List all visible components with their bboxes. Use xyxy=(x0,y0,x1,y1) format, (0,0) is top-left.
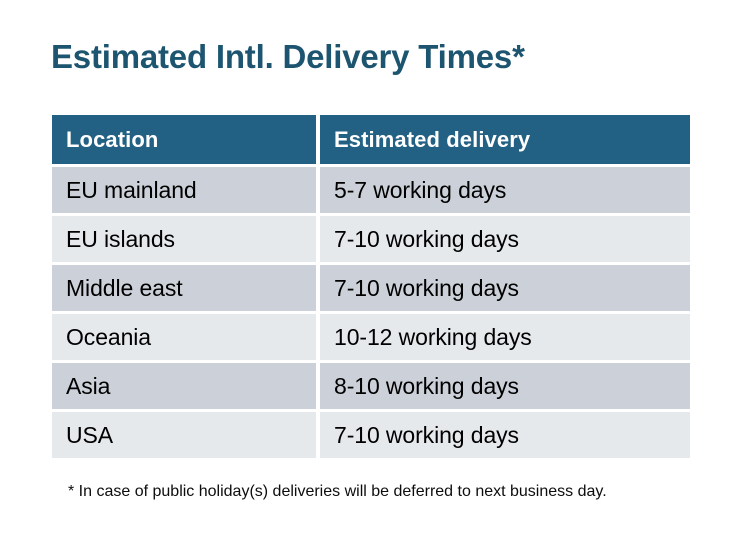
table-header-row: Location Estimated delivery xyxy=(52,115,690,164)
cell-location: USA xyxy=(52,412,316,458)
cell-estimated-delivery: 7-10 working days xyxy=(320,216,690,262)
estimated-delivery-times-table: Location Estimated delivery EU mainland … xyxy=(52,115,690,461)
footnote-text: * In case of public holiday(s) deliverie… xyxy=(68,481,607,503)
cell-estimated-delivery: 7-10 working days xyxy=(320,265,690,311)
cell-location: Oceania xyxy=(52,314,316,360)
table-row: Oceania 10-12 working days xyxy=(52,314,690,360)
cell-estimated-delivery: 7-10 working days xyxy=(320,412,690,458)
column-header-estimated-delivery: Estimated delivery xyxy=(320,115,690,164)
cell-estimated-delivery: 10-12 working days xyxy=(320,314,690,360)
page-title: Estimated Intl. Delivery Times* xyxy=(51,36,525,78)
cell-location: Asia xyxy=(52,363,316,409)
cell-location: Middle east xyxy=(52,265,316,311)
cell-estimated-delivery: 8-10 working days xyxy=(320,363,690,409)
cell-location: EU mainland xyxy=(52,167,316,213)
column-header-location: Location xyxy=(52,115,316,164)
delivery-times-page: Estimated Intl. Delivery Times* Location… xyxy=(0,0,745,536)
table-row: Middle east 7-10 working days xyxy=(52,265,690,311)
table-row: USA 7-10 working days xyxy=(52,412,690,458)
table-row: EU mainland 5-7 working days xyxy=(52,167,690,213)
cell-location: EU islands xyxy=(52,216,316,262)
table-row: Asia 8-10 working days xyxy=(52,363,690,409)
cell-estimated-delivery: 5-7 working days xyxy=(320,167,690,213)
table-row: EU islands 7-10 working days xyxy=(52,216,690,262)
